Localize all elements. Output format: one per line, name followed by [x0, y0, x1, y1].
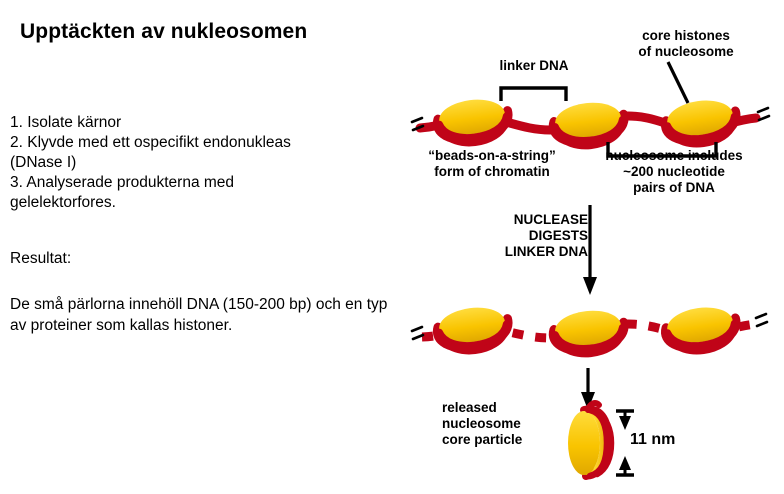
label-nuclease-digests: NUCLEASE DIGESTS LINKER DNA — [478, 212, 588, 260]
strand-break-mark-right — [756, 314, 767, 326]
result-text: De små pärlorna innehöll DNA (150-200 bp… — [10, 294, 405, 336]
core-histones-leader-line — [668, 62, 688, 103]
digested-chromatin-row — [412, 303, 767, 357]
procedure-step: 2. Klyvde med ett ospecifikt endonukleas… — [10, 133, 400, 173]
label-core-histones: core histones of nucleosome — [596, 28, 776, 60]
nucleosome-bead — [663, 303, 740, 356]
nucleosome-bead — [435, 96, 511, 147]
procedure-step: 1. Isolate kärnor — [10, 113, 400, 133]
nucleosome-bead — [551, 99, 627, 149]
label-released-core-particle: released nucleosome core particle — [442, 400, 590, 448]
linker-dna-bracket — [501, 88, 566, 101]
label-nucleosome-includes: nucleosome includes ~200 nucleotide pair… — [576, 148, 772, 196]
result-heading: Resultat: — [10, 250, 71, 268]
procedure-step: 3. Analyserade produkterna med gelelekto… — [10, 173, 400, 213]
nucleosome-bead — [435, 304, 511, 355]
nucleosome-bead — [551, 307, 627, 357]
nucleosome-diagram: linker DNA core histones of nucleosome “… — [400, 0, 784, 494]
label-size-11nm: 11 nm — [630, 432, 700, 448]
page-title: Upptäckten av nukleosomen — [20, 20, 307, 44]
procedure-step-list: 1. Isolate kärnor 2. Klyvde med ett ospe… — [10, 113, 400, 213]
beads-on-a-string-row — [412, 96, 769, 150]
strand-break-mark-left — [412, 327, 423, 339]
nucleosome-bead — [663, 96, 740, 149]
label-linker-dna: linker DNA — [474, 58, 594, 74]
label-beads-on-a-string: “beads-on-a-string” form of chromatin — [398, 148, 586, 180]
